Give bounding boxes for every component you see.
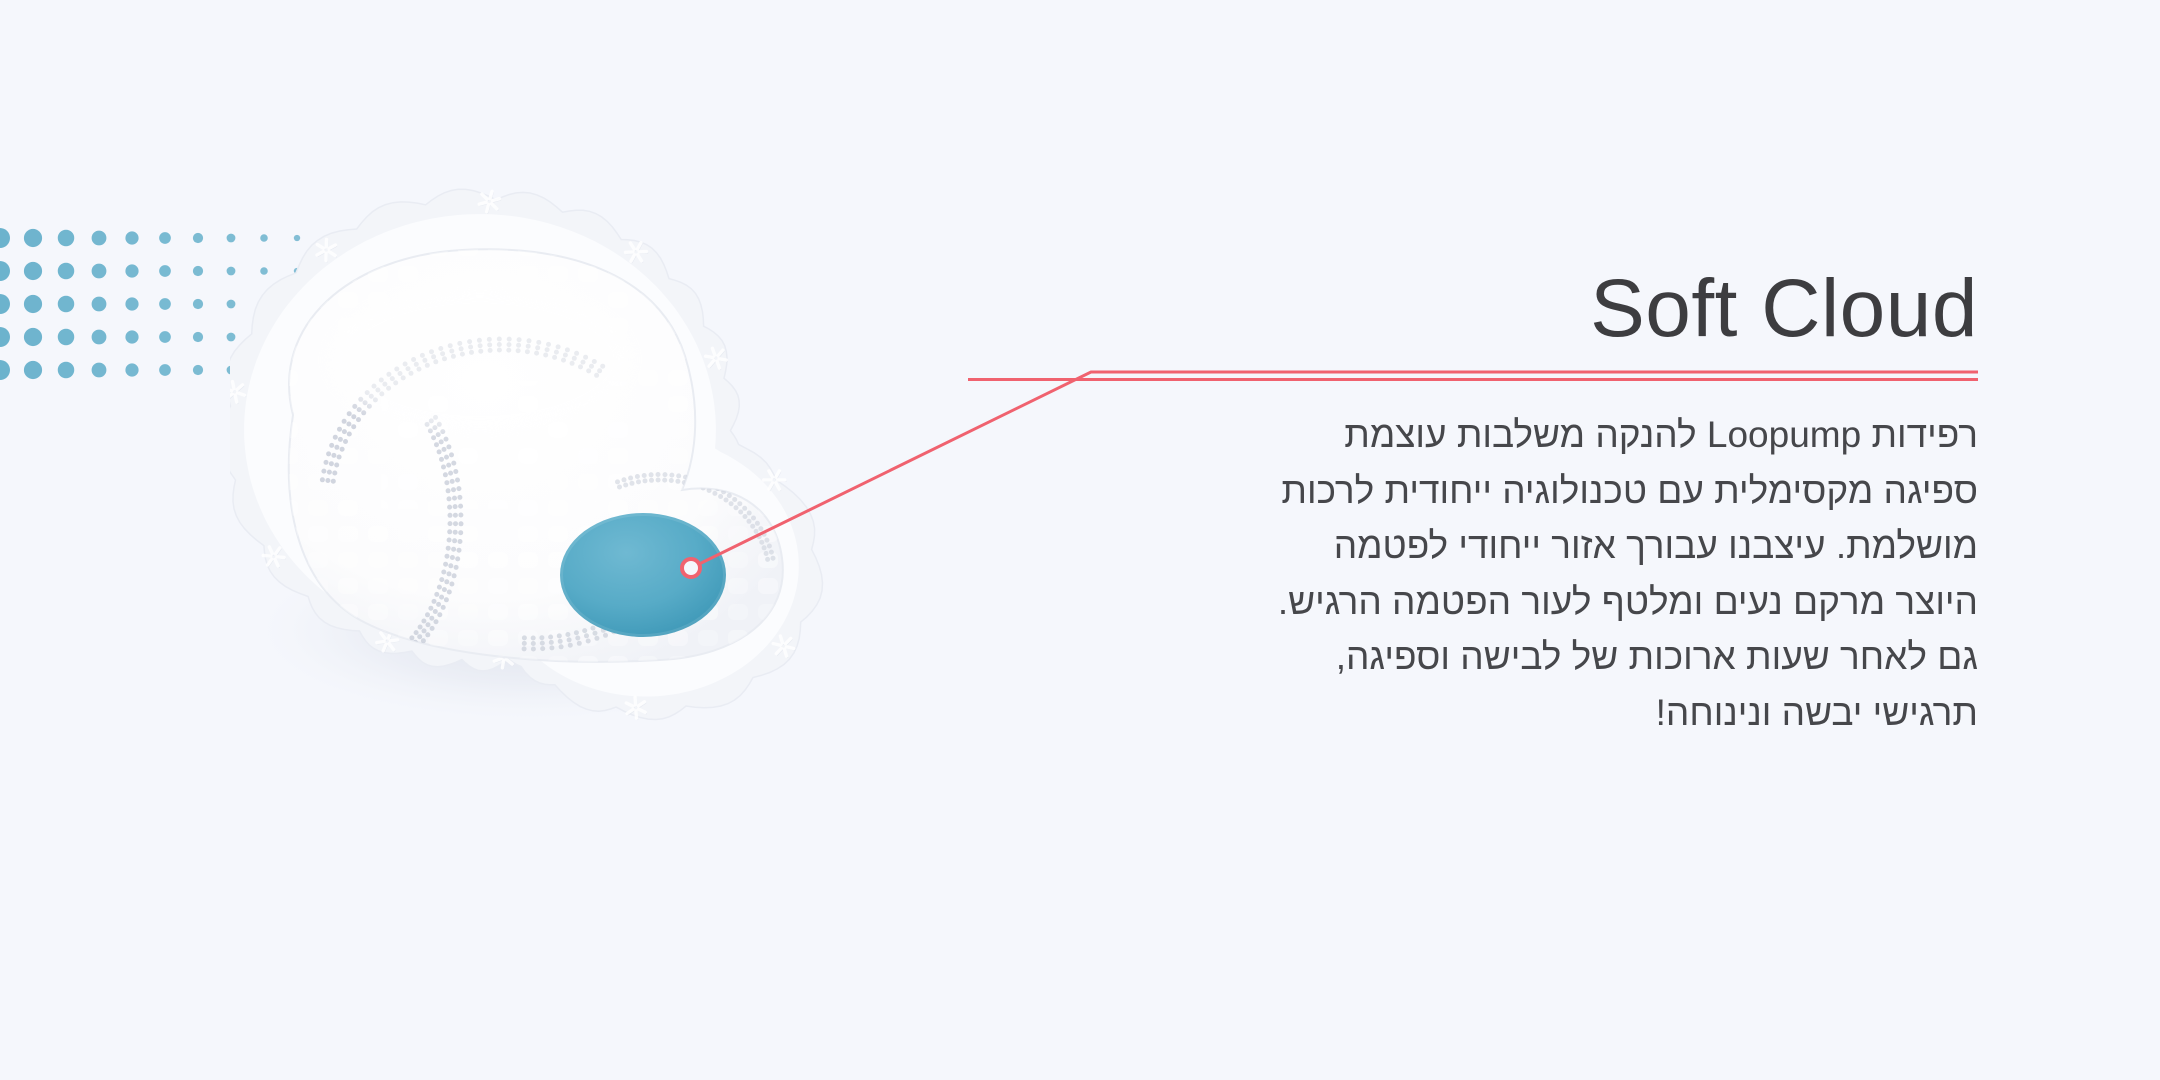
- quilt-cell: [788, 656, 808, 672]
- halftone-dot: [92, 264, 107, 279]
- emboss-dot: [540, 646, 545, 651]
- quilt-cell: [308, 422, 328, 438]
- quilt-cell: [788, 474, 808, 490]
- emboss-dot: [343, 439, 348, 444]
- emboss-dot: [540, 641, 545, 646]
- quilt-cell: [488, 500, 508, 516]
- emboss-dot: [450, 555, 455, 560]
- halftone-dot: [159, 232, 171, 244]
- quilt-cell: [398, 552, 418, 568]
- quilt-cell: [398, 526, 418, 542]
- emboss-dot: [421, 638, 426, 643]
- body-paragraph: רפידות Loopump להנקה משלבות עוצמת ספיגה …: [968, 407, 1978, 740]
- emboss-dot: [447, 496, 452, 501]
- quilt-cell: [488, 448, 508, 464]
- emboss-dot: [325, 478, 330, 483]
- emboss-dot: [448, 563, 453, 568]
- halftone-dot: [159, 265, 171, 277]
- quilt-cell: [788, 370, 808, 386]
- emboss-dot: [732, 497, 737, 502]
- emboss-dot: [432, 599, 437, 604]
- emboss-dot: [352, 404, 357, 409]
- emboss-dot: [436, 432, 441, 437]
- emboss-dot: [409, 635, 414, 640]
- quilt-cell: [338, 526, 358, 542]
- emboss-dot: [747, 519, 752, 524]
- emboss-dot: [628, 476, 633, 481]
- quilt-cell: [458, 630, 478, 646]
- halftone-dot: [58, 362, 74, 378]
- emboss-dot: [742, 506, 747, 511]
- quilt-cell: [368, 448, 388, 464]
- halftone-dot: [24, 229, 42, 247]
- emboss-dot: [549, 645, 554, 650]
- page-title: Soft Cloud: [968, 268, 1978, 350]
- quilt-cell: [518, 578, 538, 594]
- emboss-dot: [617, 485, 622, 490]
- emboss-dot: [448, 471, 453, 476]
- emboss-dot: [764, 551, 769, 556]
- halftone-dot: [193, 332, 203, 342]
- quilt-cell: [488, 630, 508, 646]
- quilt-cell: [308, 344, 328, 360]
- quilt-cell: [458, 578, 478, 594]
- halftone-dot: [24, 262, 42, 280]
- emboss-dot: [361, 410, 366, 415]
- quilt-cell: [758, 266, 778, 282]
- emboss-dot: [428, 606, 433, 611]
- quilt-cell: [788, 448, 808, 464]
- emboss-dot: [422, 628, 427, 633]
- quilt-cell: [788, 396, 808, 412]
- emboss-dot: [594, 636, 599, 641]
- emboss-dot: [434, 442, 439, 447]
- halftone-dot: [58, 296, 74, 312]
- emboss-dot: [574, 630, 579, 635]
- quilt-cell: [428, 630, 448, 646]
- quilt-cell: [728, 370, 748, 386]
- quilt-cell: [668, 396, 688, 412]
- emboss-dot: [458, 504, 463, 509]
- halftone-dot: [58, 329, 74, 345]
- emboss-dot: [455, 478, 460, 483]
- halftone-dot: [125, 330, 138, 343]
- emboss-dot: [321, 469, 326, 474]
- halftone-dot: [0, 360, 10, 380]
- emboss-dot: [755, 521, 760, 526]
- emboss-dot: [437, 585, 442, 590]
- quilt-cell: [428, 500, 448, 516]
- emboss-dot: [724, 498, 729, 503]
- quilt-cell: [788, 344, 808, 360]
- quilt-cell: [518, 526, 538, 542]
- quilt-cell: [338, 474, 358, 490]
- quilt-cell: [308, 318, 328, 334]
- halftone-dot: [0, 294, 10, 314]
- quilt-cell: [308, 552, 328, 568]
- emboss-dot: [656, 472, 661, 477]
- halftone-dot: [193, 266, 203, 276]
- emboss-dot: [444, 437, 449, 442]
- emboss-dot: [458, 539, 463, 544]
- quilt-cell: [548, 604, 568, 620]
- product-illustration: [230, 160, 1020, 800]
- emboss-dot: [453, 504, 458, 509]
- emboss-dot: [340, 447, 345, 452]
- emboss-dot: [559, 644, 564, 649]
- emboss-dot: [531, 641, 536, 646]
- quilt-cell: [518, 448, 538, 464]
- emboss-dot: [442, 587, 447, 592]
- emboss-dot: [443, 562, 448, 567]
- emboss-dot: [712, 491, 717, 496]
- emboss-dot: [447, 571, 452, 576]
- quilt-cell: [398, 500, 418, 516]
- quilt-cell: [668, 240, 688, 256]
- emboss-dot: [757, 534, 762, 539]
- quilt-cell: [698, 266, 718, 282]
- emboss-dot: [751, 516, 756, 521]
- emboss-dot: [347, 432, 352, 437]
- quilt-cell: [368, 604, 388, 620]
- quilt-cell: [278, 240, 298, 256]
- halftone-dot: [159, 331, 171, 343]
- quilt-cell: [308, 396, 328, 412]
- halftone-dot: [159, 364, 171, 376]
- emboss-dot: [327, 470, 332, 475]
- quilt-cell: [758, 422, 778, 438]
- quilt-cell: [638, 318, 658, 334]
- quilt-cell: [398, 604, 418, 620]
- emboss-dot: [356, 417, 361, 422]
- emboss-dot: [451, 461, 456, 466]
- emboss-dot: [522, 635, 527, 640]
- quilt-cell: [728, 266, 748, 282]
- emboss-dot: [428, 428, 433, 433]
- quilt-cell: [488, 552, 508, 568]
- quilt-cell: [788, 318, 808, 334]
- emboss-dot: [584, 633, 589, 638]
- emboss-dot: [414, 630, 419, 635]
- quilt-cell: [308, 500, 328, 516]
- halftone-dot: [0, 228, 10, 248]
- emboss-dot: [436, 602, 441, 607]
- quilt-cell: [668, 370, 688, 386]
- emboss-dot: [447, 529, 452, 534]
- emboss-dot: [669, 473, 674, 478]
- quilt-cell: [398, 578, 418, 594]
- quilt-cell: [788, 240, 808, 256]
- emboss-dot: [577, 641, 582, 646]
- emboss-dot: [453, 530, 458, 535]
- quilt-cell: [308, 370, 328, 386]
- quilt-cell: [428, 266, 448, 282]
- quilt-cell: [758, 396, 778, 412]
- halftone-dot: [24, 295, 42, 313]
- quilt-cell: [488, 266, 508, 282]
- emboss-dot: [586, 639, 591, 644]
- title-underline-rule: [968, 378, 1978, 381]
- halftone-dot: [24, 328, 42, 346]
- emboss-dot: [443, 472, 448, 477]
- quilt-cell: [608, 422, 628, 438]
- slide-canvas: Soft Cloud רפידות Loopump להנקה משלבות ע…: [0, 0, 2160, 1080]
- emboss-dot: [531, 636, 536, 641]
- emboss-dot: [615, 479, 620, 484]
- emboss-dot: [342, 419, 347, 424]
- emboss-dot: [452, 573, 457, 578]
- emboss-dot: [643, 478, 648, 483]
- emboss-dot: [441, 570, 446, 575]
- emboss-dot: [767, 544, 772, 549]
- emboss-dot: [426, 622, 431, 627]
- emboss-dot: [764, 538, 769, 543]
- halftone-dot: [125, 363, 138, 376]
- quilt-cell: [758, 318, 778, 334]
- emboss-dot: [334, 445, 339, 450]
- emboss-dot: [642, 473, 647, 478]
- quilt-cell: [758, 292, 778, 308]
- halftone-dot: [92, 231, 107, 246]
- emboss-dot: [754, 529, 759, 534]
- quilt-cell: [308, 474, 328, 490]
- emboss-dot: [458, 530, 463, 535]
- quilt-cell: [758, 370, 778, 386]
- quilt-cell: [368, 422, 388, 438]
- quilt-cell: [668, 448, 688, 464]
- emboss-dot: [447, 590, 452, 595]
- emboss-dot: [734, 505, 739, 510]
- emboss-dot: [337, 455, 342, 460]
- emboss-dot: [453, 513, 458, 518]
- emboss-dot: [433, 609, 438, 614]
- emboss-dot: [434, 619, 439, 624]
- quilt-cell: [698, 240, 718, 256]
- emboss-dot: [727, 493, 732, 498]
- emboss-dot: [441, 605, 446, 610]
- quilt-cell: [398, 448, 418, 464]
- quilt-cell: [368, 578, 388, 594]
- quilt-cell: [578, 500, 598, 516]
- quilt-cell: [728, 240, 748, 256]
- quilt-cell: [368, 474, 388, 490]
- halftone-dot: [58, 230, 74, 246]
- emboss-dot: [326, 451, 331, 456]
- quilt-cell: [728, 292, 748, 308]
- halftone-dot: [159, 298, 171, 310]
- quilt-cell: [758, 344, 778, 360]
- emboss-dot: [675, 479, 680, 484]
- quilt-cell: [458, 604, 478, 620]
- quilt-cell: [728, 526, 748, 542]
- halftone-dot: [193, 233, 203, 243]
- quilt-cell: [488, 604, 508, 620]
- emboss-dot: [332, 471, 337, 476]
- halftone-dot: [193, 299, 203, 309]
- emboss-dot: [457, 495, 462, 500]
- emboss-dot: [750, 524, 755, 529]
- quilt-cell: [428, 526, 448, 542]
- emboss-dot: [447, 538, 452, 543]
- quilt-cell: [638, 448, 658, 464]
- emboss-dot: [759, 540, 764, 545]
- emboss-dot: [450, 479, 455, 484]
- emboss-dot: [548, 635, 553, 640]
- halftone-dot: [58, 263, 74, 279]
- emboss-dot: [771, 556, 776, 561]
- emboss-dot: [445, 554, 450, 559]
- quilt-cell: [518, 500, 538, 516]
- quilt-cell: [518, 604, 538, 620]
- quilt-cell: [578, 474, 598, 490]
- emboss-dot: [338, 437, 343, 442]
- quilt-cell: [338, 292, 358, 308]
- emboss-dot: [452, 538, 457, 543]
- emboss-dot: [342, 429, 347, 434]
- emboss-dot: [549, 640, 554, 645]
- quilt-cell: [578, 266, 598, 282]
- quilt-cell: [368, 552, 388, 568]
- emboss-dot: [737, 501, 742, 506]
- emboss-dot: [456, 486, 461, 491]
- emboss-dot: [447, 505, 452, 510]
- quilt-cell: [638, 474, 658, 490]
- emboss-dot: [449, 582, 454, 587]
- quilt-cell: [368, 500, 388, 516]
- emboss-dot: [331, 479, 336, 484]
- emboss-dot: [446, 463, 451, 468]
- emboss-dot: [769, 550, 774, 555]
- quilt-cell: [728, 578, 748, 594]
- quilt-cell: [638, 344, 658, 360]
- emboss-dot: [758, 526, 763, 531]
- quilt-cell: [548, 500, 568, 516]
- emboss-dot: [431, 435, 436, 440]
- emboss-dot: [448, 521, 453, 526]
- emboss-dot: [565, 632, 570, 637]
- emboss-dot: [351, 414, 356, 419]
- emboss-dot: [622, 477, 627, 482]
- emboss-dot: [457, 548, 462, 553]
- quilt-cell: [788, 292, 808, 308]
- emboss-dot: [662, 478, 667, 483]
- emboss-dot: [417, 634, 422, 639]
- emboss-dot: [446, 444, 451, 449]
- emboss-dot: [451, 547, 456, 552]
- quilt-cell: [668, 422, 688, 438]
- emboss-dot: [567, 637, 572, 642]
- emboss-dot: [351, 424, 356, 429]
- emboss-dot: [337, 427, 342, 432]
- quilt-cell: [488, 526, 508, 542]
- emboss-dot: [676, 473, 681, 478]
- emboss-dot: [430, 626, 435, 631]
- emboss-dot: [320, 477, 325, 482]
- emboss-dot: [762, 545, 767, 550]
- text-panel: Soft Cloud רפידות Loopump להנקה משלבות ע…: [968, 268, 1978, 777]
- emboss-dot: [539, 635, 544, 640]
- emboss-dot: [346, 422, 351, 427]
- quilt-cell: [458, 266, 478, 282]
- quilt-cell: [518, 266, 538, 282]
- emboss-dot: [455, 556, 460, 561]
- emboss-dot: [421, 619, 426, 624]
- quilt-cell: [338, 578, 358, 594]
- emboss-dot: [582, 628, 587, 633]
- quilt-cell: [488, 578, 508, 594]
- emboss-dot: [446, 546, 451, 551]
- quilt-cell: [758, 240, 778, 256]
- emboss-dot: [663, 472, 668, 477]
- emboss-dot: [449, 452, 454, 457]
- emboss-dot: [669, 478, 674, 483]
- emboss-dot: [454, 565, 459, 570]
- emboss-dot: [630, 481, 635, 486]
- emboss-dot: [765, 557, 770, 562]
- emboss-dot: [453, 469, 458, 474]
- quilt-cell: [698, 500, 718, 516]
- halftone-dot: [125, 297, 138, 310]
- halftone-dot: [92, 363, 107, 378]
- emboss-dot: [439, 457, 444, 462]
- emboss-dot: [446, 488, 451, 493]
- quilt-cell: [698, 630, 718, 646]
- emboss-dot: [762, 532, 767, 537]
- emboss-dot: [458, 513, 463, 518]
- halftone-dot: [0, 327, 10, 347]
- emboss-dot: [451, 487, 456, 492]
- emboss-dot: [437, 612, 442, 617]
- quilt-cell: [548, 474, 568, 490]
- emboss-dot: [522, 641, 527, 646]
- quilt-cell: [488, 474, 508, 490]
- emboss-dot: [418, 625, 423, 630]
- quilt-cell: [458, 552, 478, 568]
- emboss-dot: [439, 577, 444, 582]
- emboss-dot: [522, 646, 527, 651]
- emboss-dot: [334, 463, 339, 468]
- emboss-dot: [329, 461, 334, 466]
- emboss-dot: [747, 511, 752, 516]
- quilt-cell: [338, 552, 358, 568]
- emboss-dot: [452, 496, 457, 501]
- emboss-dot: [558, 639, 563, 644]
- emboss-dot: [324, 460, 329, 465]
- emboss-dot: [743, 514, 748, 519]
- emboss-dot: [444, 480, 449, 485]
- quilt-cell: [308, 526, 328, 542]
- emboss-dot: [333, 435, 338, 440]
- quilt-cell: [398, 266, 418, 282]
- quilt-cell: [548, 422, 568, 438]
- halftone-dot: [92, 297, 107, 312]
- quilt-cell: [758, 578, 778, 594]
- emboss-dot: [453, 521, 458, 526]
- quilt-cell: [638, 422, 658, 438]
- quilt-cell: [368, 526, 388, 542]
- quilt-cell: [458, 448, 478, 464]
- quilt-cell: [728, 318, 748, 334]
- emboss-dot: [459, 521, 464, 526]
- emboss-dot: [557, 633, 562, 638]
- halftone-dot: [125, 231, 138, 244]
- quilt-cell: [608, 292, 628, 308]
- quilt-cell: [548, 526, 568, 542]
- quilt-cell: [338, 500, 358, 516]
- emboss-dot: [439, 595, 444, 600]
- emboss-dot: [636, 479, 641, 484]
- quilt-cell: [548, 266, 568, 282]
